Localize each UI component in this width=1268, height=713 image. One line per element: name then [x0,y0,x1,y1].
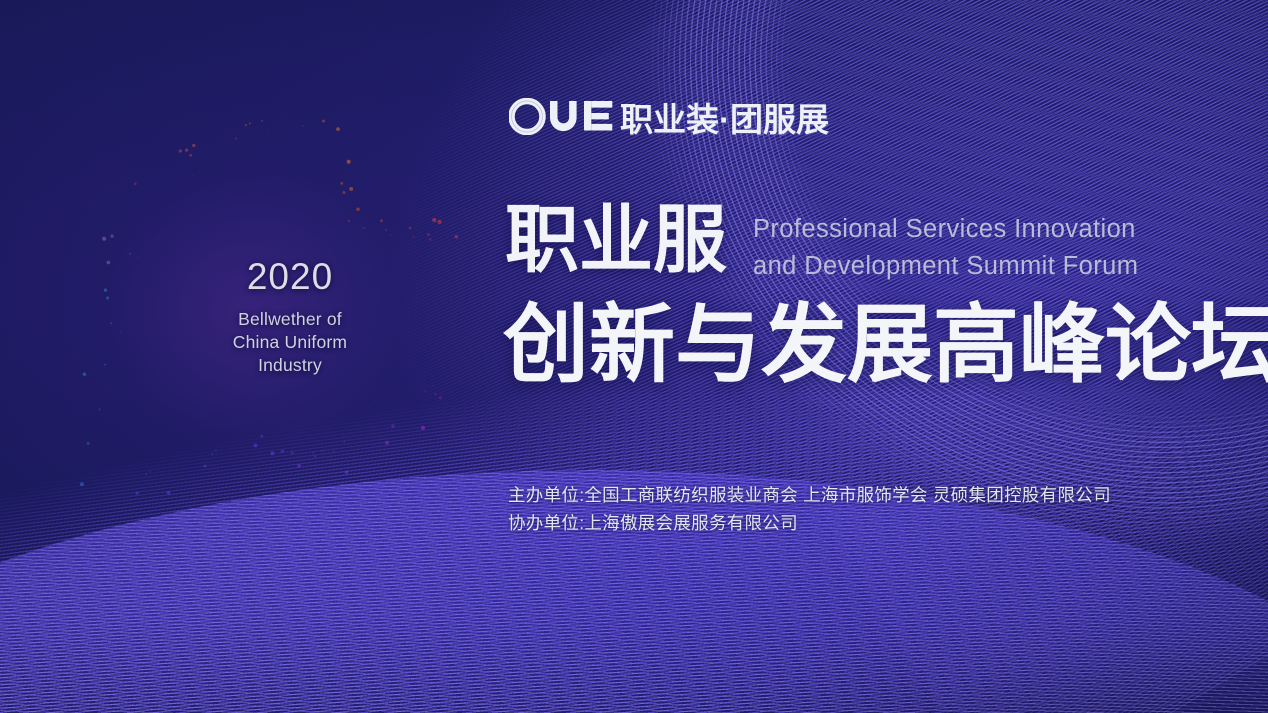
tagline-line-2: China Uniform [190,331,390,354]
title-chinese-line-2: 创新与发展高峰论坛 [503,302,1268,388]
host-organizers: 主办单位:全国工商联纺织服装业商会 上海市服饰学会 灵硕集团控股有限公司 [508,481,1111,509]
brand-logo: 职业装·团服展 [509,98,829,135]
title-chinese-line-1: 职业服 [505,205,727,275]
left-caption-block: 2020 Bellwether of China Uniform Industr… [190,258,390,377]
poster-canvas: 2020 Bellwether of China Uniform Industr… [0,0,1268,713]
tagline-block: Bellwether of China Uniform Industry [190,308,390,377]
tagline-line-3: Industry [190,354,390,377]
co-host-organizers: 协办单位:上海傲展会展服务有限公司 [508,509,1111,537]
year-label: 2020 [190,258,390,295]
title-english-block: Professional Services Innovation and Dev… [753,211,1138,285]
title-english-line-2: and Development Summit Forum [753,248,1138,285]
logo-chinese-text: 职业装·团服展 [620,103,829,136]
title-row: 职业服 Professional Services Innovation and… [505,205,1138,285]
oue-logomark-icon [509,98,613,135]
title-english-line-1: Professional Services Innovation [753,211,1138,248]
organizers-block: 主办单位:全国工商联纺织服装业商会 上海市服饰学会 灵硕集团控股有限公司 协办单… [508,481,1111,538]
tagline-line-1: Bellwether of [190,308,390,331]
